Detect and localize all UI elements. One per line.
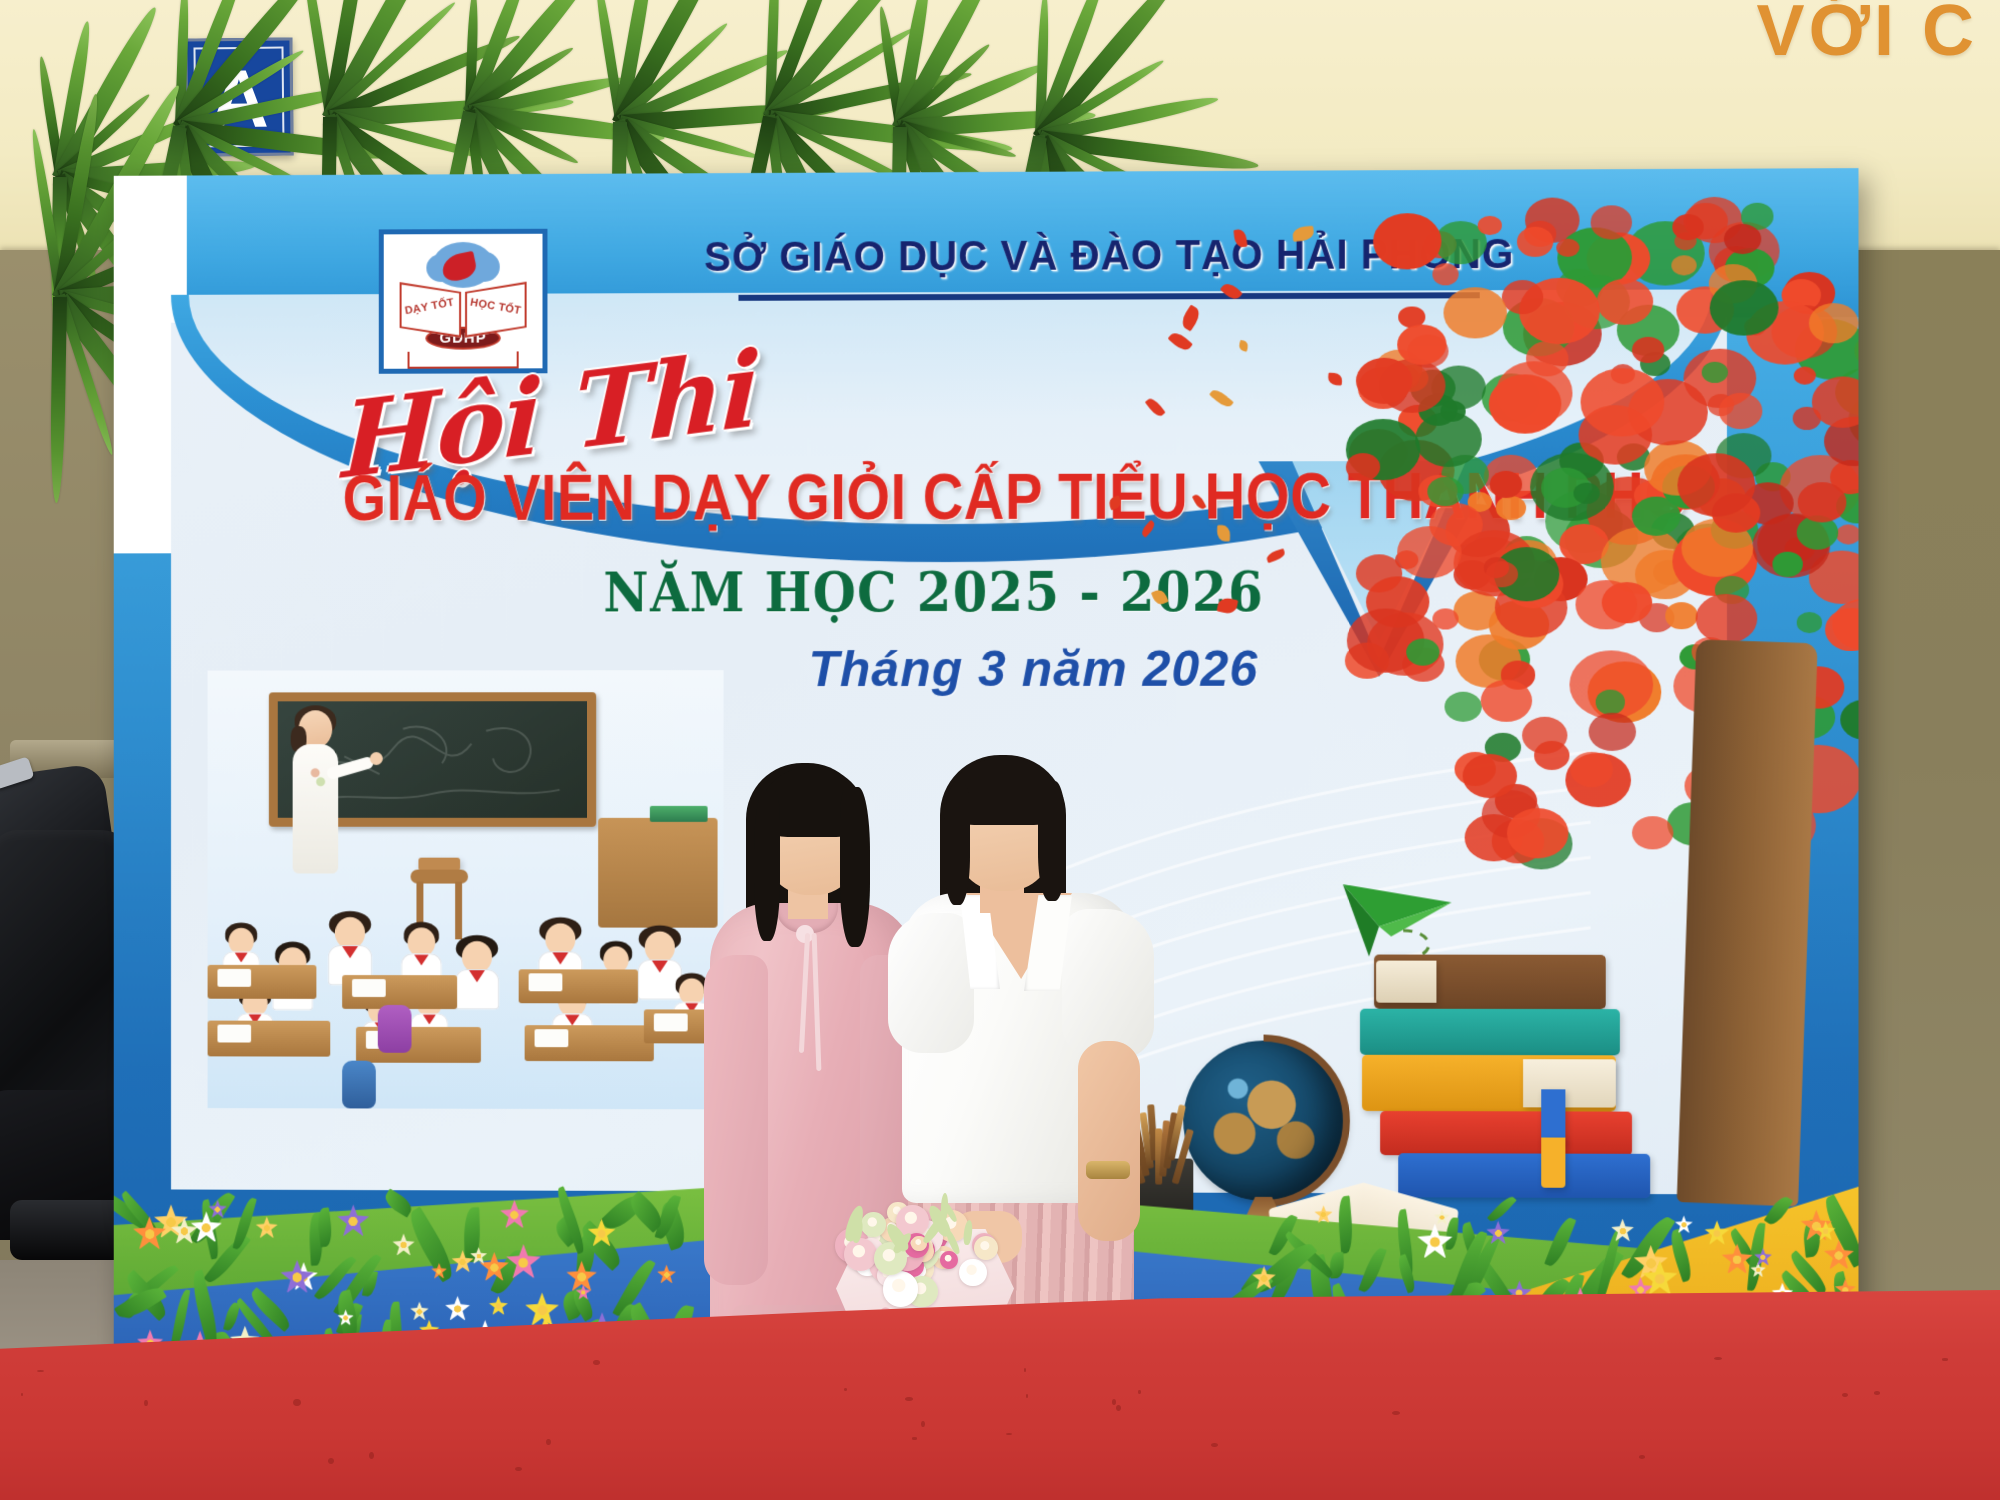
classroom-illustration xyxy=(208,670,724,1109)
teacher-figure xyxy=(285,710,346,879)
hair-right xyxy=(1038,781,1066,901)
gdhp-logo: DẠY TỐT HỌC TỐT GDHP xyxy=(379,229,548,374)
puff-sleeve-right xyxy=(1062,909,1154,1059)
wall-slogan-text: VỚI C xyxy=(1757,0,1978,72)
hair-left xyxy=(754,791,780,941)
motorbike-engine xyxy=(10,1200,130,1260)
open-book-icon: DẠY TỐT HỌC TỐT xyxy=(399,283,528,331)
left-arm xyxy=(704,955,768,1285)
puff-sleeve-left xyxy=(888,913,974,1053)
wristwatch xyxy=(1086,1161,1130,1179)
desk-books xyxy=(650,806,708,822)
event-photo-scene: VỚI C A xyxy=(0,0,2000,1500)
teacher-desk xyxy=(598,818,717,928)
right-arm xyxy=(1078,1041,1140,1241)
hair-right xyxy=(840,787,870,947)
atom-icon xyxy=(426,240,499,287)
hair-left xyxy=(944,785,970,905)
